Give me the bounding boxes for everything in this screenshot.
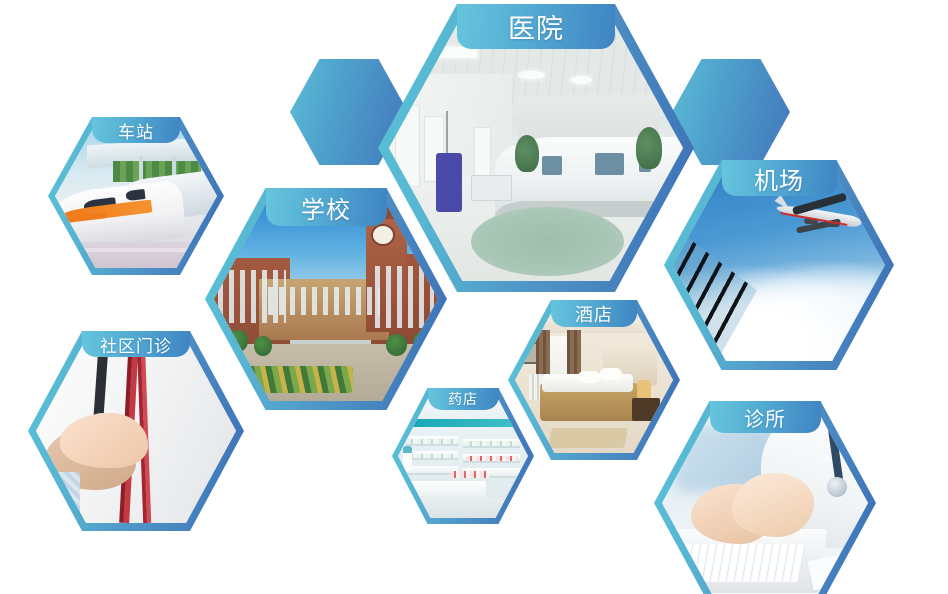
hex-label-text-hospital: 医院 bbox=[508, 7, 564, 46]
hex-label-text-clinic: 诊所 bbox=[744, 403, 786, 432]
hex-label-pharmacy: 药店 bbox=[428, 388, 499, 410]
hex-label-school: 学校 bbox=[266, 188, 387, 226]
hex-tile-community-clinic[interactable]: 社区门诊 bbox=[28, 331, 244, 531]
hex-tile-airport[interactable]: 机场 bbox=[664, 160, 894, 370]
hex-label-community-clinic: 社区门诊 bbox=[82, 331, 190, 357]
hexagon-diagram: 车站 bbox=[0, 0, 948, 594]
hex-label-text-airport: 机场 bbox=[754, 161, 804, 196]
hex-tile-station[interactable]: 车站 bbox=[48, 117, 224, 275]
hex-label-text-community-clinic: 社区门诊 bbox=[100, 332, 172, 357]
hex-label-text-pharmacy: 药店 bbox=[448, 389, 478, 409]
hex-label-airport: 机场 bbox=[722, 160, 837, 196]
hex-label-text-station: 车站 bbox=[118, 118, 154, 143]
hex-tile-pharmacy[interactable]: 药店 bbox=[392, 388, 534, 524]
hex-label-text-hotel: 酒店 bbox=[575, 301, 613, 327]
hex-label-hospital: 医院 bbox=[457, 4, 615, 49]
hex-tile-clinic[interactable]: 诊所 bbox=[654, 401, 876, 594]
hex-label-hotel: 酒店 bbox=[551, 300, 637, 327]
hex-label-station: 车站 bbox=[92, 117, 180, 143]
hex-label-text-school: 学校 bbox=[301, 190, 351, 225]
hex-label-clinic: 诊所 bbox=[710, 401, 821, 433]
